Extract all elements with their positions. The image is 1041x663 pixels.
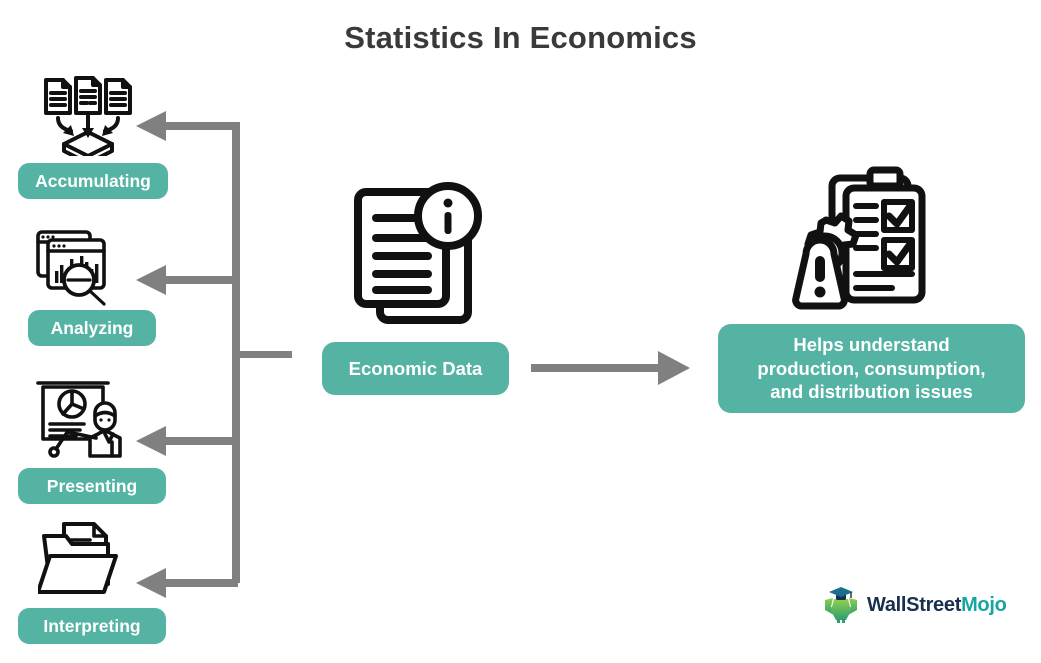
step-label-interpreting[interactable]: Interpreting xyxy=(18,608,166,644)
folder-document-icon xyxy=(38,520,130,605)
step-label-analyzing[interactable]: Analyzing xyxy=(28,310,156,346)
logo-word-accent: Mojo xyxy=(961,594,1006,616)
step-label-presenting[interactable]: Presenting xyxy=(18,468,166,504)
center-label-economic-data[interactable]: Economic Data xyxy=(322,342,509,395)
outcome-line-1: Helps understand xyxy=(757,333,985,357)
outcome-line-2: production, consumption, xyxy=(757,357,985,381)
outcome-label[interactable]: Helps understand production, consumption… xyxy=(718,324,1025,413)
presentation-board-person-icon xyxy=(36,379,130,464)
step-label-accumulating[interactable]: Accumulating xyxy=(18,163,168,199)
wallstreetmojo-mascot-icon xyxy=(822,586,860,624)
infographic-canvas: Statistics In Economics xyxy=(0,0,1041,663)
clipboard-checklist-gear-alert-icon xyxy=(780,166,940,319)
windows-bar-chart-magnifier-icon xyxy=(34,228,126,313)
documents-into-stack-icon xyxy=(40,76,136,161)
logo-word-primary: WallStreet xyxy=(867,594,961,616)
wallstreetmojo-logo[interactable]: WallStreetMojo xyxy=(822,586,1007,624)
document-info-icon xyxy=(352,182,484,329)
outcome-line-3: and distribution issues xyxy=(757,380,985,404)
